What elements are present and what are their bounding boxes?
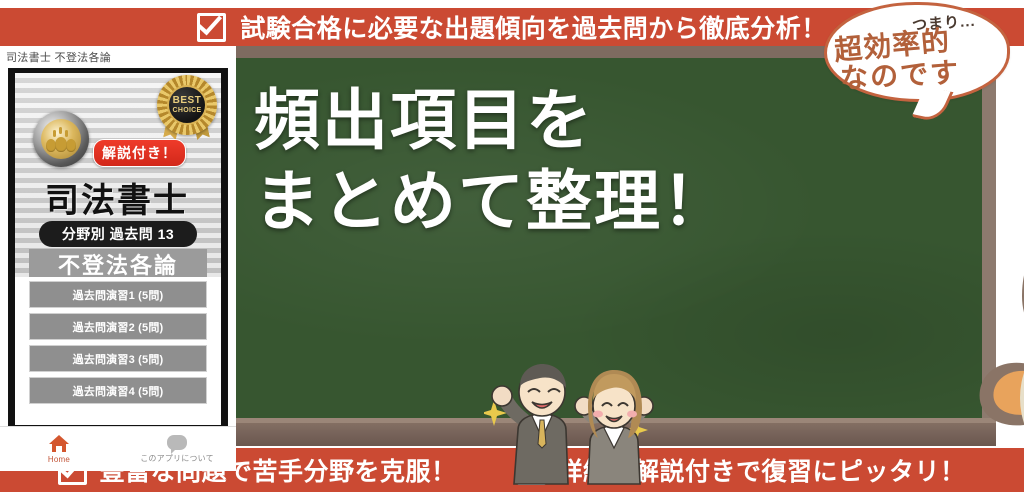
checkbox-checked-icon xyxy=(197,13,226,42)
nav-label-about: このアプリについて xyxy=(140,453,214,464)
quiz-list: 過去問演習1 (5問) 過去問演習2 (5問) 過去問演習3 (5問) 過去問演… xyxy=(15,277,221,404)
app-device-frame: BEST CHOICE 解説付き！ 司法書士 分野別 過去問 13 不登法各論 … xyxy=(8,68,228,430)
app-header: 司法書士 不登法各論 xyxy=(0,46,236,68)
app-hero-title: 司法書士 xyxy=(45,173,189,222)
blackboard-text: 頻出項目を まとめて整理！ xyxy=(254,80,774,241)
promo-banner-screenshot: 試験合格に必要な出題傾向を過去問から徹底分析！ 頻出項目を まとめて整理！ xyxy=(0,0,1024,500)
app-bottom-nav: Home このアプリについて xyxy=(0,426,236,471)
app-hero-category: 不登法各論 xyxy=(29,249,207,277)
medal-line-2: CHOICE xyxy=(172,107,201,114)
owl-professor-icon xyxy=(978,184,1024,484)
app-viewport: BEST CHOICE 解説付き！ 司法書士 分野別 過去問 13 不登法各論 … xyxy=(15,73,221,425)
list-item[interactable]: 過去問演習3 (5問) xyxy=(29,345,207,372)
nav-label-home: Home xyxy=(48,455,70,464)
best-choice-medal-icon: BEST CHOICE xyxy=(157,75,217,135)
app-hero-subtitle: 分野別 過去問 13 xyxy=(39,221,197,247)
blackboard-line-2: まとめて整理！ xyxy=(254,161,774,242)
chat-bubble-icon xyxy=(167,435,187,450)
nav-item-home[interactable]: Home xyxy=(0,427,118,471)
speech-bubble-line-2: なのです xyxy=(839,51,961,97)
list-item[interactable]: 過去問演習1 (5問) xyxy=(29,281,207,308)
app-hero-image: BEST CHOICE 解説付き！ 司法書士 分野別 過去問 13 不登法各論 xyxy=(15,73,221,277)
home-icon xyxy=(49,435,69,452)
speech-bubble: つまり... 超効率的 なのです xyxy=(824,2,1010,102)
paulownia-crest-icon xyxy=(33,111,89,167)
app-header-title: 司法書士 不登法各論 xyxy=(6,49,111,65)
top-banner-text: 試験合格に必要な出題傾向を過去問から徹底分析！ xyxy=(240,9,827,45)
list-item[interactable]: 過去問演習4 (5問) xyxy=(29,377,207,404)
cheering-students-icon xyxy=(484,364,674,492)
commentary-badge: 解説付き！ xyxy=(93,139,186,167)
blackboard: 頻出項目を まとめて整理！ xyxy=(236,46,996,446)
app-screenshot: 司法書士 不登法各論 xyxy=(0,46,236,446)
medal-line-1: BEST xyxy=(173,96,202,106)
list-item[interactable]: 過去問演習2 (5問) xyxy=(29,313,207,340)
nav-item-about[interactable]: このアプリについて xyxy=(118,427,236,471)
blackboard-line-1: 頻出項目を xyxy=(254,83,594,157)
